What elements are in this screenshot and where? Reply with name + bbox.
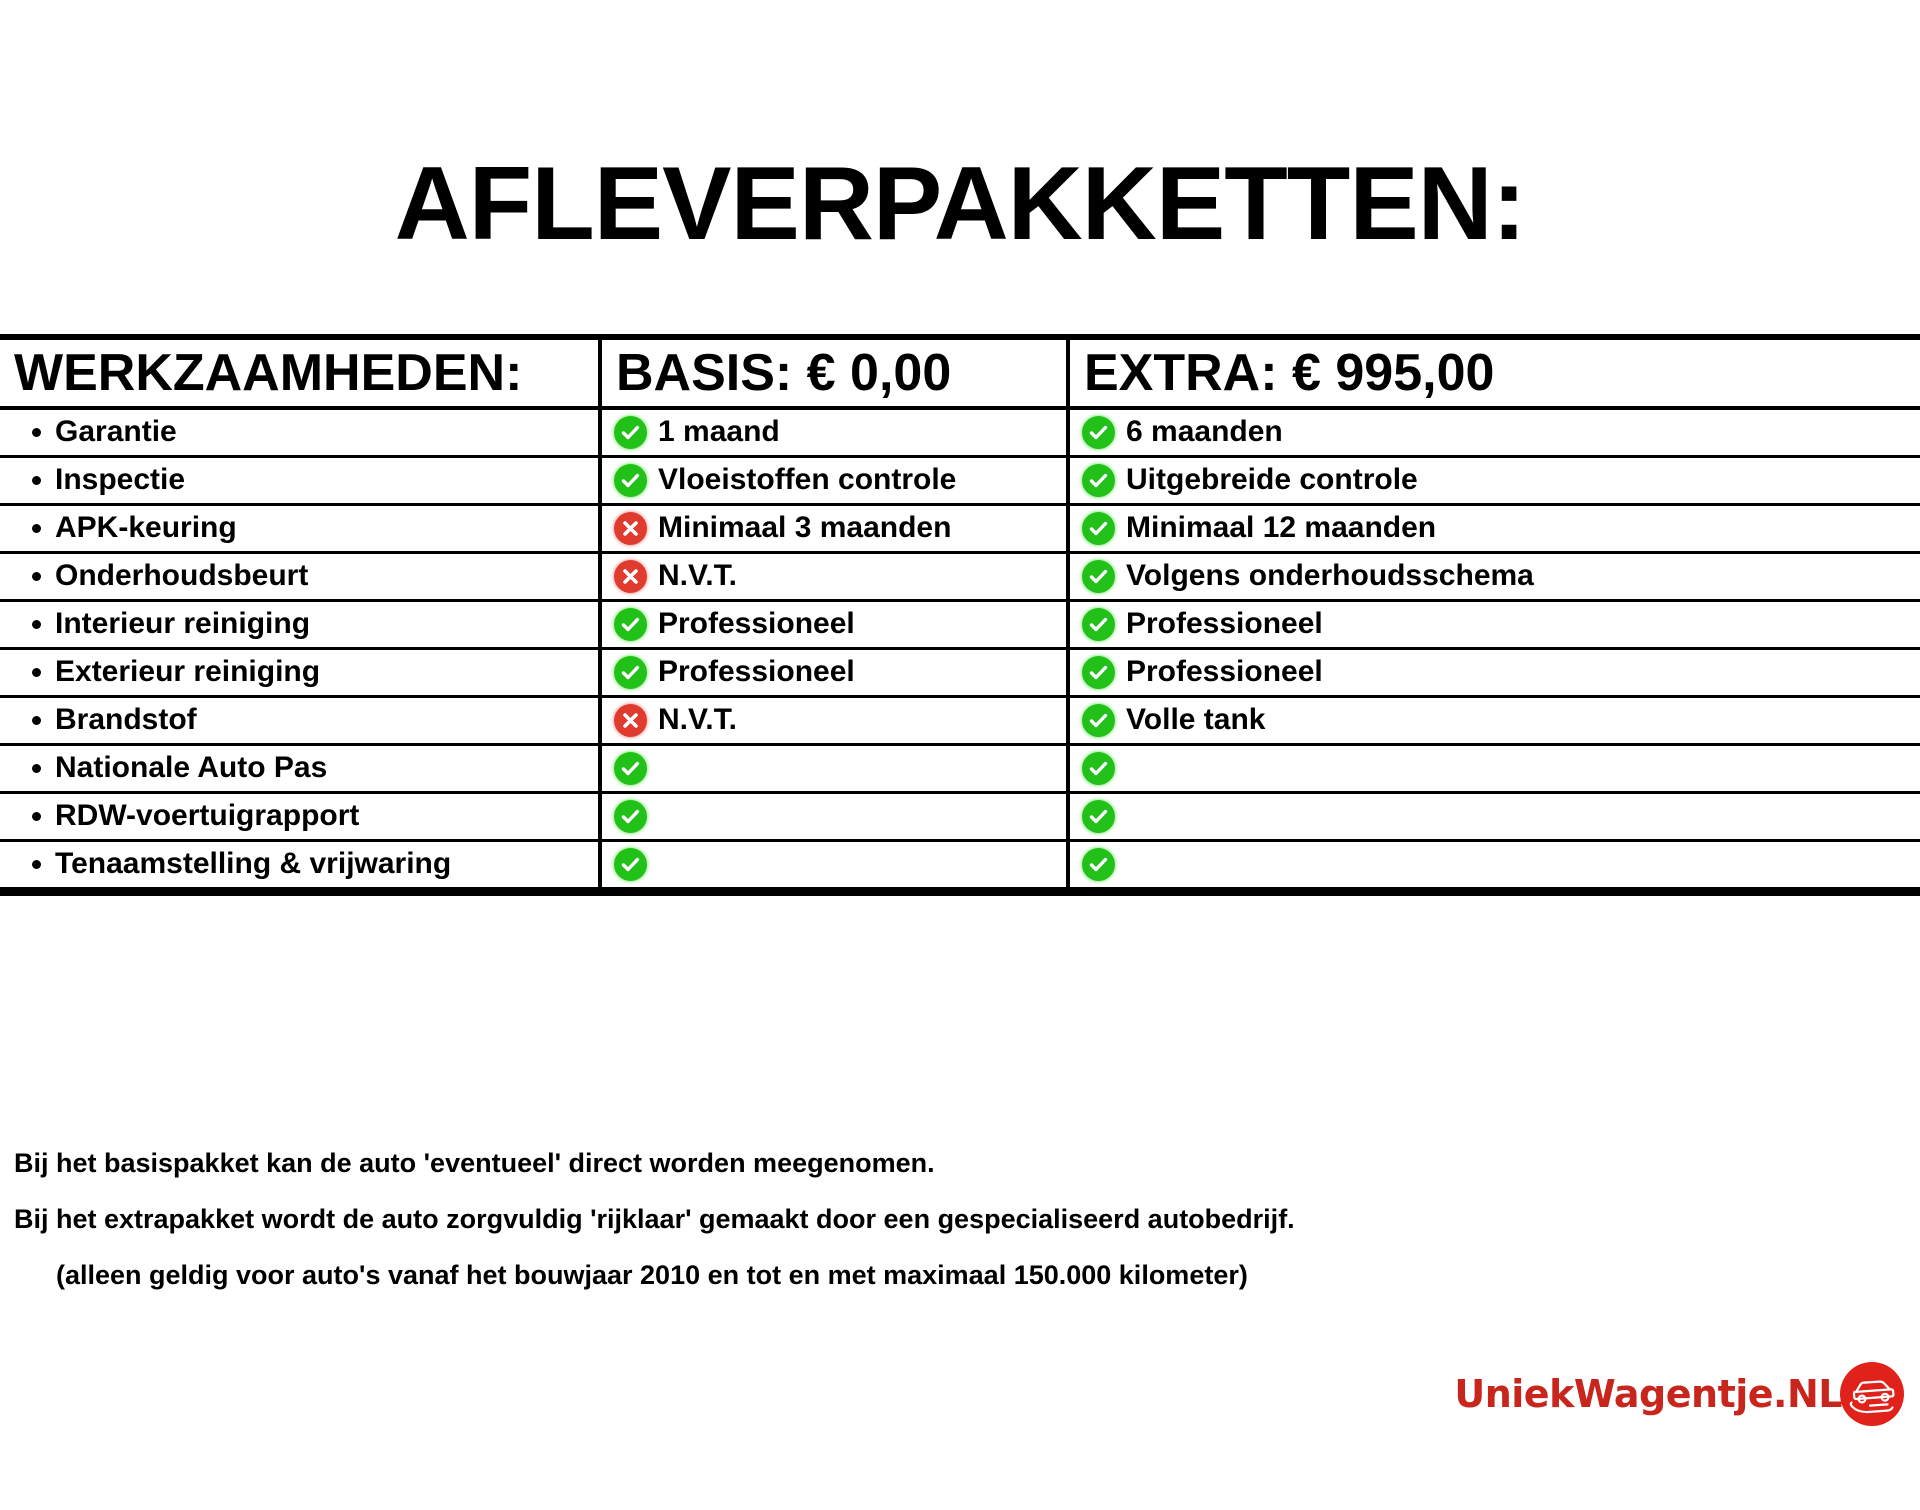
cell-task: Tenaamstelling & vrijwaring: [0, 840, 600, 888]
check-circle-icon: [1082, 800, 1115, 833]
task-label: RDW-voertuigrapport: [55, 799, 359, 833]
table-row: Nationale Auto Pas: [0, 744, 1920, 792]
header-cell-basis: BASIS: € 0,00: [600, 340, 1068, 408]
cell-extra: Uitgebreide controle: [1068, 456, 1920, 504]
check-circle-icon: [1082, 848, 1115, 881]
basis-value: Professioneel: [658, 657, 855, 687]
check-circle-icon: [1082, 752, 1115, 785]
table-row: BrandstofN.V.T.Volle tank: [0, 696, 1920, 744]
extra-value: Uitgebreide controle: [1126, 465, 1418, 495]
cell-extra: Volgens onderhoudsschema: [1068, 552, 1920, 600]
bullet-icon: [32, 716, 41, 725]
page-title: AFLEVERPAKKETTEN:: [0, 70, 1920, 256]
check-circle-icon: [1082, 560, 1115, 593]
basis-value: 1 maand: [658, 417, 780, 447]
packages-table-container: WERKZAAMHEDEN: BASIS: € 0,00 EXTRA: € 99…: [0, 334, 1920, 896]
basis-value: Vloeistoffen controle: [658, 465, 956, 495]
cell-basis: [600, 792, 1068, 840]
extra-value: 6 maanden: [1126, 417, 1283, 447]
cell-basis: N.V.T.: [600, 552, 1068, 600]
task-label: APK-keuring: [55, 511, 237, 545]
bullet-icon: [32, 572, 41, 581]
cell-extra: 6 maanden: [1068, 408, 1920, 457]
table-row: Exterieur reinigingProfessioneelProfessi…: [0, 648, 1920, 696]
header-label-extra: EXTRA: € 995,00: [1070, 347, 1920, 399]
table-row: RDW-voertuigrapport: [0, 792, 1920, 840]
cell-task: APK-keuring: [0, 504, 600, 552]
brand-logo[interactable]: UniekWagentje.NL: [1454, 1362, 1904, 1426]
cell-extra: Volle tank: [1068, 696, 1920, 744]
table-body: Garantie1 maand6 maandenInspectieVloeist…: [0, 408, 1920, 889]
cell-basis: 1 maand: [600, 408, 1068, 457]
task-label: Nationale Auto Pas: [55, 751, 327, 785]
task-label: Inspectie: [55, 463, 185, 497]
check-circle-icon: [614, 416, 647, 449]
table-row: APK-keuringMinimaal 3 maandenMinimaal 12…: [0, 504, 1920, 552]
extra-value: Minimaal 12 maanden: [1126, 513, 1436, 543]
check-circle-icon: [614, 848, 647, 881]
packages-table: WERKZAAMHEDEN: BASIS: € 0,00 EXTRA: € 99…: [0, 340, 1920, 890]
cell-basis: N.V.T.: [600, 696, 1068, 744]
extra-value: Professioneel: [1126, 609, 1323, 639]
cell-extra: [1068, 840, 1920, 888]
cell-task: Exterieur reiniging: [0, 648, 600, 696]
task-label: Exterieur reiniging: [55, 655, 320, 689]
footer-notes: Bij het basispakket kan de auto 'eventue…: [14, 1150, 1714, 1318]
basis-value: N.V.T.: [658, 561, 737, 591]
bullet-icon: [32, 812, 41, 821]
check-circle-icon: [614, 464, 647, 497]
footer-note: Bij het extrapakket wordt de auto zorgvu…: [14, 1206, 1714, 1233]
table-row: InspectieVloeistoffen controleUitgebreid…: [0, 456, 1920, 504]
cell-basis: Professioneel: [600, 648, 1068, 696]
brand-logo-text: UniekWagentje.NL: [1454, 1375, 1842, 1413]
cross-circle-icon: [614, 512, 647, 545]
header-label-tasks: WERKZAAMHEDEN:: [0, 347, 598, 399]
bullet-icon: [32, 524, 41, 533]
bullet-icon: [32, 668, 41, 677]
table-header-row: WERKZAAMHEDEN: BASIS: € 0,00 EXTRA: € 99…: [0, 340, 1920, 408]
cross-circle-icon: [614, 704, 647, 737]
cell-task: RDW-voertuigrapport: [0, 792, 600, 840]
table-row: Tenaamstelling & vrijwaring: [0, 840, 1920, 888]
check-circle-icon: [614, 752, 647, 785]
check-circle-icon: [614, 608, 647, 641]
bullet-icon: [32, 764, 41, 773]
cell-basis: [600, 744, 1068, 792]
cell-task: Brandstof: [0, 696, 600, 744]
bullet-icon: [32, 428, 41, 437]
cell-basis: Minimaal 3 maanden: [600, 504, 1068, 552]
basis-value: Minimaal 3 maanden: [658, 513, 951, 543]
task-label: Tenaamstelling & vrijwaring: [55, 847, 451, 881]
header-label-basis: BASIS: € 0,00: [602, 347, 1066, 399]
cell-basis: Professioneel: [600, 600, 1068, 648]
cell-basis: Vloeistoffen controle: [600, 456, 1068, 504]
cell-basis: [600, 840, 1068, 888]
extra-value: Volle tank: [1126, 705, 1265, 735]
cell-task: Inspectie: [0, 456, 600, 504]
check-circle-icon: [1082, 512, 1115, 545]
task-label: Interieur reiniging: [55, 607, 310, 641]
table-row: Interieur reinigingProfessioneelProfessi…: [0, 600, 1920, 648]
task-label: Brandstof: [55, 703, 197, 737]
check-circle-icon: [614, 800, 647, 833]
task-label: Garantie: [55, 415, 177, 449]
check-circle-icon: [1082, 704, 1115, 737]
table-row: OnderhoudsbeurtN.V.T.Volgens onderhoudss…: [0, 552, 1920, 600]
bullet-icon: [32, 476, 41, 485]
header-cell-tasks: WERKZAAMHEDEN:: [0, 340, 600, 408]
basis-value: N.V.T.: [658, 705, 737, 735]
extra-value: Volgens onderhoudsschema: [1126, 561, 1534, 591]
basis-value: Professioneel: [658, 609, 855, 639]
cell-extra: [1068, 792, 1920, 840]
cell-extra: Professioneel: [1068, 600, 1920, 648]
task-label: Onderhoudsbeurt: [55, 559, 308, 593]
car-in-hand-icon: [1840, 1362, 1904, 1426]
cell-task: Nationale Auto Pas: [0, 744, 600, 792]
check-circle-icon: [1082, 464, 1115, 497]
check-circle-icon: [1082, 608, 1115, 641]
cell-task: Garantie: [0, 408, 600, 457]
extra-value: Professioneel: [1126, 657, 1323, 687]
cell-task: Interieur reiniging: [0, 600, 600, 648]
check-circle-icon: [1082, 416, 1115, 449]
bullet-icon: [32, 860, 41, 869]
check-circle-icon: [1082, 656, 1115, 689]
bullet-icon: [32, 620, 41, 629]
cell-task: Onderhoudsbeurt: [0, 552, 600, 600]
cell-extra: Minimaal 12 maanden: [1068, 504, 1920, 552]
check-circle-icon: [614, 656, 647, 689]
cross-circle-icon: [614, 560, 647, 593]
header-cell-extra: EXTRA: € 995,00: [1068, 340, 1920, 408]
cell-extra: Professioneel: [1068, 648, 1920, 696]
cell-extra: [1068, 744, 1920, 792]
footer-note: (alleen geldig voor auto's vanaf het bou…: [14, 1262, 1714, 1289]
table-row: Garantie1 maand6 maanden: [0, 408, 1920, 457]
footer-note: Bij het basispakket kan de auto 'eventue…: [14, 1150, 1714, 1177]
